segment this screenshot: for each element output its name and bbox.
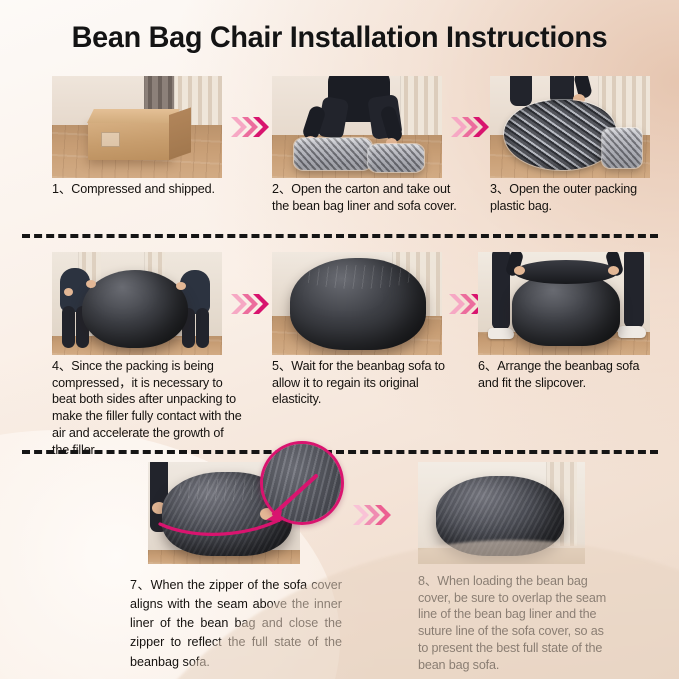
step-3-photo [490,76,650,178]
arrow-step7-to-step8-icon [352,503,392,527]
arrow-step1-to-step2-icon [230,115,270,139]
step-1-photo [52,76,222,178]
step-5-photo [272,252,442,355]
step-6-caption: 6、Arrange the beanbag sofa and fit the s… [478,358,656,391]
step-4-photo [52,252,222,355]
step-5-caption: 5、Wait for the beanbag sofa to allow it … [272,358,462,408]
page-title: Bean Bag Chair Installation Instructions [14,21,666,55]
step-1-caption: 1、Compressed and shipped. [52,181,242,198]
step-2-caption: 2、Open the carton and take out the bean … [272,181,460,214]
step-2-photo [272,76,442,178]
step-4-caption: 4、Since the packing is being compressed，… [52,358,242,458]
arrow-step2-to-step3-icon [450,115,490,139]
callout-pointer-arrow-icon [250,470,330,528]
step-7-caption: 7、When the zipper of the sofa cover alig… [130,576,342,672]
step-6-photo [478,252,650,355]
arrow-step4-to-step5-icon [230,292,270,316]
step-8-caption: 8、When loading the bean bag cover, be su… [418,573,614,673]
row-divider-1 [22,234,658,238]
instruction-poster: Bean Bag Chair Installation Instructions… [0,0,679,679]
step-3-caption: 3、Open the outer packing plastic bag. [490,181,662,214]
step-8-photo [418,462,585,564]
